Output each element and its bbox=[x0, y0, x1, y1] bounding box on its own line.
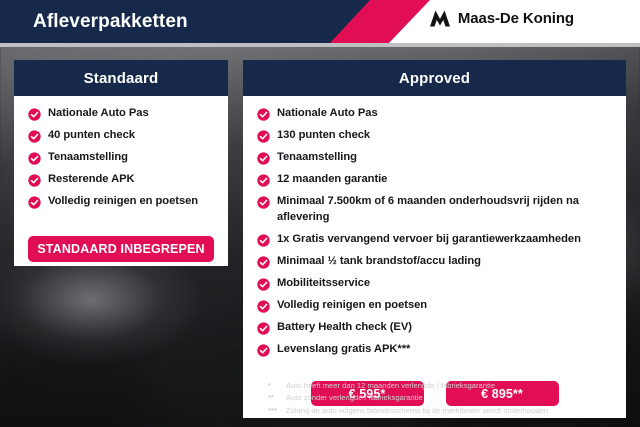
feature-label: 12 maanden garantie bbox=[277, 172, 387, 187]
page-title: Afleverpakketten bbox=[33, 11, 188, 33]
card-header-approved: Approved bbox=[243, 60, 626, 96]
footnote-row: * Auto heeft meer dan 12 maanden verleng… bbox=[268, 380, 628, 391]
standaard-inbegrepen-button[interactable]: STANDAARD INBEGREPEN bbox=[28, 236, 214, 262]
package-card-standaard: Standaard Nationale Auto Pas 40 punten c bbox=[14, 60, 228, 266]
check-circle-icon bbox=[257, 256, 270, 269]
check-circle-icon bbox=[257, 174, 270, 187]
feature-label: Battery Health check (EV) bbox=[277, 320, 412, 335]
feature-label: Tenaamstelling bbox=[48, 150, 128, 165]
list-item: Resterende APK bbox=[28, 172, 218, 187]
footnote-marker: * bbox=[268, 381, 286, 390]
brand-lockup: Maas-De Koning bbox=[429, 9, 574, 28]
footnote-text: Auto heeft meer dan 12 maanden verlengde… bbox=[286, 380, 495, 391]
check-circle-icon bbox=[257, 278, 270, 291]
footnote-text: Auto zonder verlengde / fabrieksgarantie bbox=[286, 392, 423, 403]
check-circle-icon bbox=[257, 322, 270, 335]
feature-label: Minimaal ½ tank brandstof/accu lading bbox=[277, 254, 481, 269]
card-header-standaard: Standaard bbox=[14, 60, 228, 96]
list-item: Minimaal ½ tank brandstof/accu lading bbox=[257, 254, 616, 269]
feature-label: Nationale Auto Pas bbox=[48, 106, 149, 121]
footnote-marker: *** bbox=[268, 406, 286, 415]
list-item: Volledig reinigen en poetsen bbox=[28, 194, 218, 209]
feature-list-standaard: Nationale Auto Pas 40 punten check Tenaa… bbox=[28, 106, 218, 210]
footnote-text: Zolang de auto volgens fabrieksschema bi… bbox=[286, 405, 548, 416]
page-header: Afleverpakketten Maas-De Koning bbox=[0, 0, 640, 43]
feature-label: Volledig reinigen en poetsen bbox=[48, 194, 198, 209]
check-circle-icon bbox=[257, 108, 270, 121]
footnotes: * Auto heeft meer dan 12 maanden verleng… bbox=[268, 380, 628, 417]
list-item: 40 punten check bbox=[28, 128, 218, 143]
footnote-marker: ** bbox=[268, 393, 286, 402]
header-underline bbox=[0, 43, 640, 47]
list-item: Minimaal 7.500km of 6 maanden onderhouds… bbox=[257, 194, 616, 224]
list-item: Tenaamstelling bbox=[257, 150, 616, 165]
brand-name: Maas-De Koning bbox=[458, 10, 574, 27]
feature-label: Minimaal 7.500km of 6 maanden onderhouds… bbox=[277, 194, 616, 224]
card-body-standaard: Nationale Auto Pas 40 punten check Tenaa… bbox=[14, 96, 228, 227]
list-item: Nationale Auto Pas bbox=[28, 106, 218, 121]
list-item: 12 maanden garantie bbox=[257, 172, 616, 187]
delivery-packages-slide: Afleverpakketten Maas-De Koning Standaar… bbox=[0, 0, 640, 427]
list-item: Mobiliteitsservice bbox=[257, 276, 616, 291]
feature-label: Resterende APK bbox=[48, 172, 135, 187]
list-item: Levenslang gratis APK*** bbox=[257, 342, 616, 357]
footnote-row: ** Auto zonder verlengde / fabrieksgaran… bbox=[268, 392, 628, 403]
check-circle-icon bbox=[28, 130, 41, 143]
feature-label: Mobiliteitsservice bbox=[277, 276, 370, 291]
footnote-row: *** Zolang de auto volgens fabrieksschem… bbox=[268, 405, 628, 416]
card-title-standaard: Standaard bbox=[84, 70, 159, 87]
check-circle-icon bbox=[28, 196, 41, 209]
list-item: 1x Gratis vervangend vervoer bij garanti… bbox=[257, 232, 616, 247]
check-circle-icon bbox=[28, 174, 41, 187]
feature-list-approved: Nationale Auto Pas 130 punten check Tena… bbox=[257, 106, 616, 357]
check-circle-icon bbox=[257, 196, 270, 209]
feature-label: Levenslang gratis APK*** bbox=[277, 342, 410, 357]
check-circle-icon bbox=[28, 152, 41, 165]
card-title-approved: Approved bbox=[399, 70, 470, 87]
list-item: Nationale Auto Pas bbox=[257, 106, 616, 121]
list-item: Tenaamstelling bbox=[28, 150, 218, 165]
package-card-approved: Approved Nationale Auto Pas 130 punten c bbox=[243, 60, 626, 418]
feature-label: Volledig reinigen en poetsen bbox=[277, 298, 427, 313]
maas-de-koning-m-mark-icon bbox=[429, 9, 451, 28]
check-circle-icon bbox=[257, 130, 270, 143]
card-body-approved: Nationale Auto Pas 130 punten check Tena… bbox=[243, 96, 626, 374]
check-circle-icon bbox=[257, 344, 270, 357]
list-item: 130 punten check bbox=[257, 128, 616, 143]
feature-label: 1x Gratis vervangend vervoer bij garanti… bbox=[277, 232, 581, 247]
feature-label: 40 punten check bbox=[48, 128, 135, 143]
list-item: Battery Health check (EV) bbox=[257, 320, 616, 335]
check-circle-icon bbox=[28, 108, 41, 121]
list-item: Volledig reinigen en poetsen bbox=[257, 298, 616, 313]
feature-label: Tenaamstelling bbox=[277, 150, 357, 165]
check-circle-icon bbox=[257, 152, 270, 165]
feature-label: Nationale Auto Pas bbox=[277, 106, 378, 121]
feature-label: 130 punten check bbox=[277, 128, 370, 143]
check-circle-icon bbox=[257, 300, 270, 313]
check-circle-icon bbox=[257, 234, 270, 247]
